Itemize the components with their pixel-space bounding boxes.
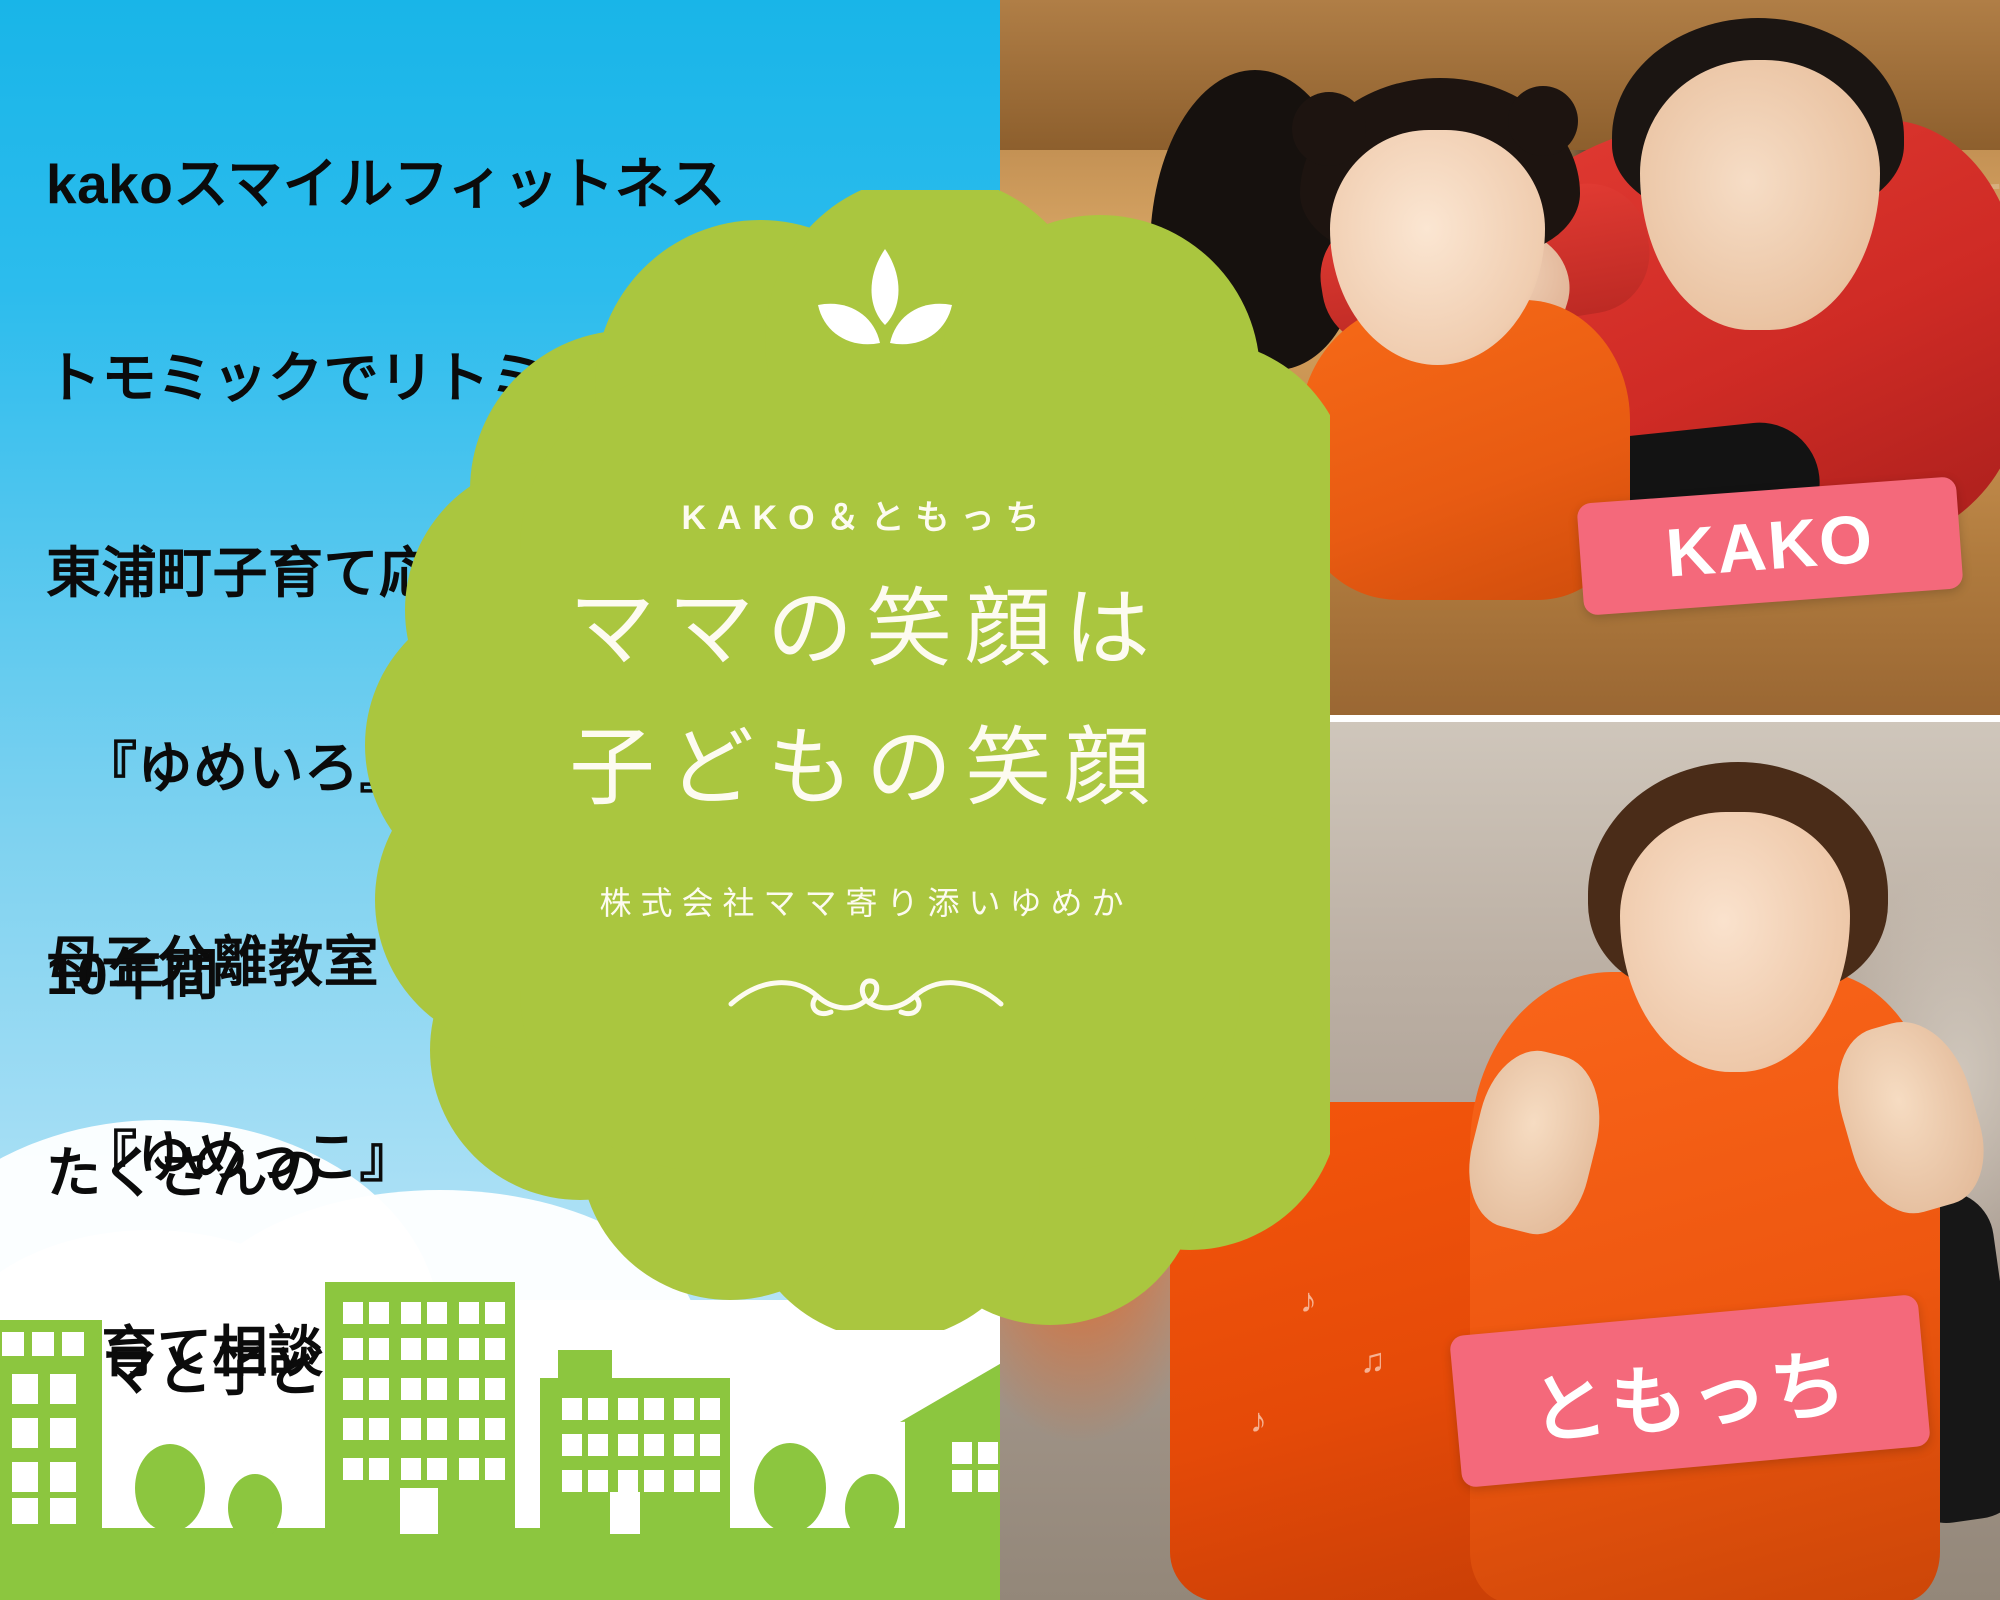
tree-1 bbox=[135, 1444, 205, 1534]
building-mid bbox=[540, 1350, 730, 1534]
house bbox=[900, 1358, 1000, 1532]
green-cloud-blob bbox=[330, 190, 1330, 1330]
poster-canvas: kakoスマイルフィットネス トモミックでリトミック♪ 東浦町子育て応援プロジェ… bbox=[0, 0, 2000, 1600]
ground-strip bbox=[0, 1528, 1000, 1600]
building-left bbox=[0, 1320, 102, 1532]
tree-3 bbox=[754, 1443, 826, 1534]
blob-shape bbox=[330, 190, 1330, 1330]
